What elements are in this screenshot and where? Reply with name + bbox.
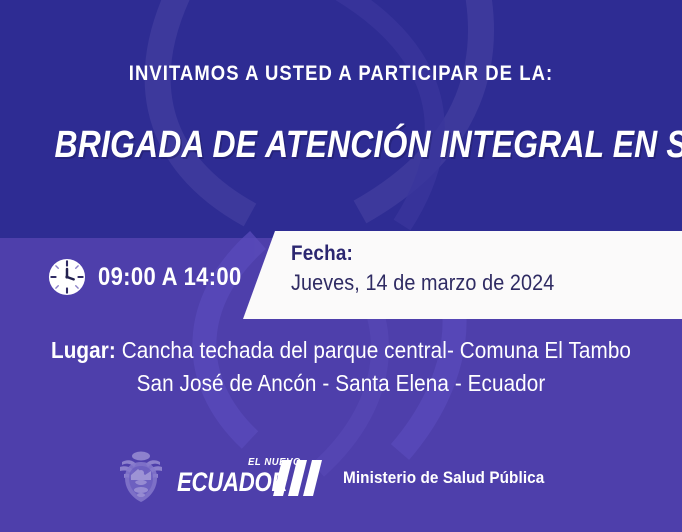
- el-nuevo-ecuador-logo: EL NUEVO ECUADOR: [177, 454, 325, 502]
- ecuador-coat-of-arms-icon: [115, 449, 167, 507]
- logo-slashes-icon: [273, 460, 325, 496]
- time-value: 09:00 A 14:00: [98, 263, 242, 292]
- background-band-top: [0, 0, 682, 238]
- place-line-1-text: Cancha techada del parque central- Comun…: [122, 337, 631, 363]
- page-title: BRIGADA DE ATENCIÓN INTEGRAL EN SALUD: [55, 124, 628, 167]
- date-value: Jueves, 14 de marzo de 2024: [291, 269, 633, 298]
- place-line-2: San José de Ancón - Santa Elena - Ecuado…: [34, 369, 648, 398]
- invite-heading: INVITAMOS A USTED A PARTICIPAR DE LA:: [41, 62, 641, 86]
- ministry-label: Ministerio de Salud Pública: [343, 468, 544, 488]
- invitation-poster: INVITAMOS A USTED A PARTICIPAR DE LA: BR…: [0, 0, 682, 532]
- place-line-1: Lugar: Cancha techada del parque central…: [34, 336, 648, 365]
- date-label: Fecha:: [291, 242, 633, 267]
- time-row: 09:00 A 14:00: [48, 258, 261, 296]
- clock-icon: [48, 258, 86, 296]
- place-block: Lugar: Cancha techada del parque central…: [0, 336, 682, 398]
- date-panel-content: Fecha: Jueves, 14 de marzo de 2024: [291, 242, 671, 297]
- logo-wordmark: ECUADOR: [177, 467, 287, 498]
- place-label: Lugar:: [51, 337, 116, 363]
- footer-logo-lockup: EL NUEVO ECUADOR Ministerio de Salud Púb…: [0, 447, 682, 509]
- date-panel: Fecha: Jueves, 14 de marzo de 2024: [243, 231, 682, 319]
